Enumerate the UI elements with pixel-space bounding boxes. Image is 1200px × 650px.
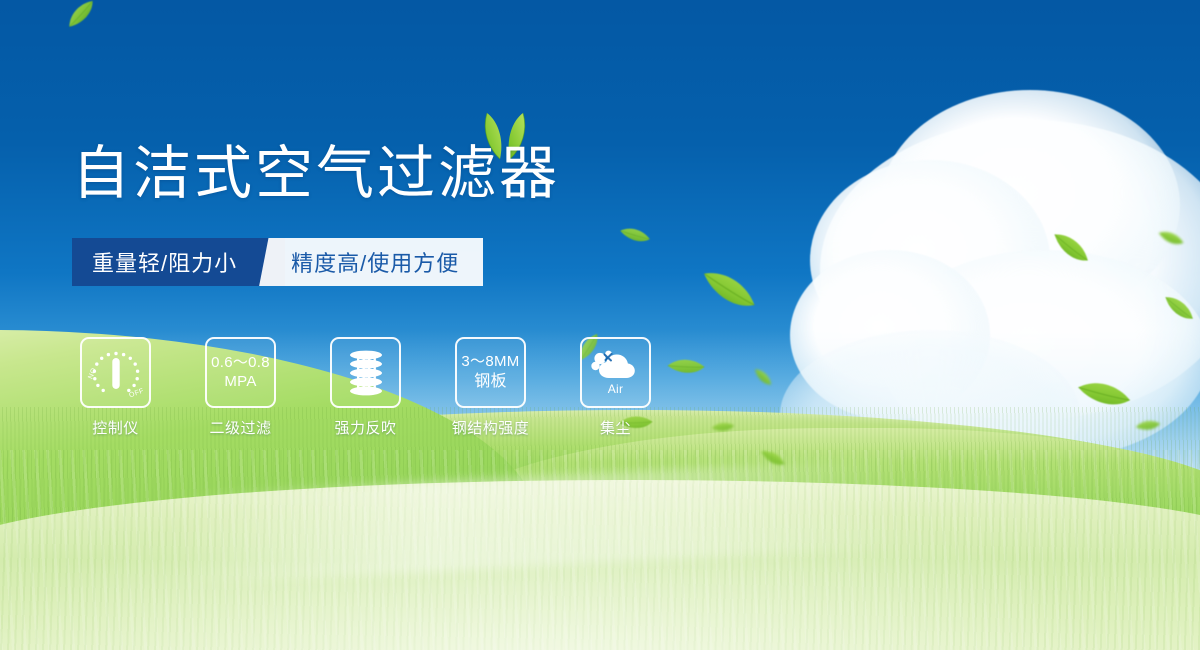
steel-material: 钢板 <box>474 372 507 392</box>
pressure-unit: MPA <box>224 373 256 392</box>
air-cloud-icon <box>589 344 643 384</box>
feature-list: NO OFF 控制仪 0.6～0.8 MPA 二级过滤 <box>80 337 651 438</box>
subtitle-left: 重量轻/阻力小 <box>72 238 259 286</box>
product-banner: 自洁式空气过滤器 重量轻/阻力小 精度高/使用方便 <box>0 0 1200 650</box>
subtitle-slant-divider <box>259 238 285 286</box>
feature-label: 强力反吹 <box>334 417 396 438</box>
feature-icon-box: 0.6～0.8 MPA <box>205 337 276 408</box>
steel-thickness: 3～8MM <box>461 353 519 372</box>
subtitle-right: 精度高/使用方便 <box>285 238 483 286</box>
feature-item-steel[interactable]: 3～8MM 钢板 钢结构强度 <box>455 337 526 438</box>
feature-label: 集尘 <box>600 417 631 438</box>
filter-cartridge-icon <box>342 347 390 399</box>
feature-icon-box: NO OFF <box>80 337 151 408</box>
page-title: 自洁式空气过滤器 <box>72 145 560 203</box>
feature-item-blowback[interactable]: 强力反吹 <box>330 337 401 438</box>
feature-item-dust[interactable]: Air 集尘 <box>580 337 651 438</box>
feature-item-control[interactable]: NO OFF 控制仪 <box>80 337 151 438</box>
feature-label: 二级过滤 <box>209 417 271 438</box>
feature-icon-box: Air <box>580 337 651 408</box>
air-label: Air <box>608 382 624 397</box>
pressure-value: 0.6～0.8 <box>211 354 270 373</box>
feature-item-pressure[interactable]: 0.6～0.8 MPA 二级过滤 <box>205 337 276 438</box>
feature-label: 钢结构强度 <box>452 417 530 438</box>
subtitle-badge-bar: 重量轻/阻力小 精度高/使用方便 <box>72 238 483 286</box>
feature-label: 控制仪 <box>92 417 139 438</box>
feature-icon-box: 3～8MM 钢板 <box>455 337 526 408</box>
feature-icon-box <box>330 337 401 408</box>
